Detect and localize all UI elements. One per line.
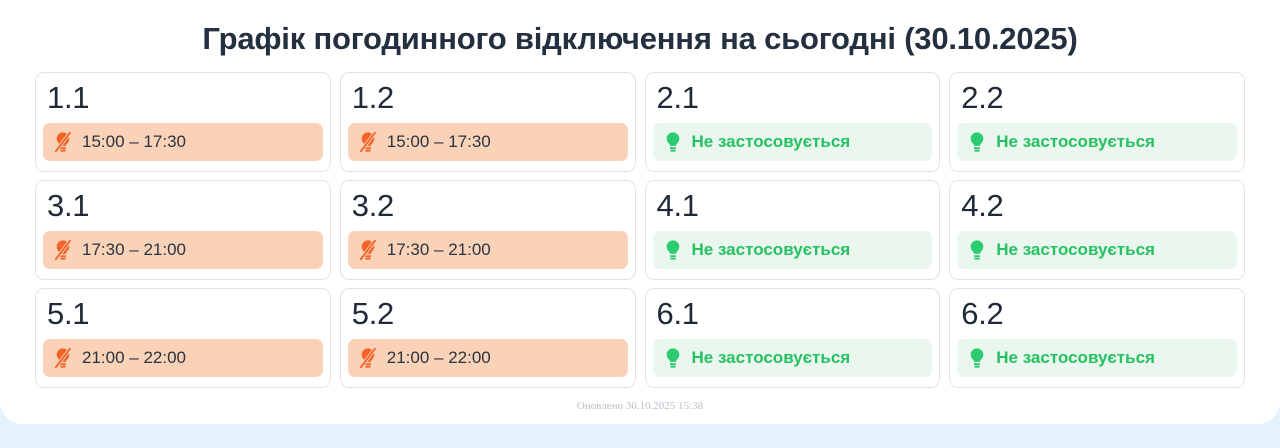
active-status-pill: Не застосовується — [653, 123, 933, 161]
active-status-pill: Не застосовується — [653, 339, 933, 377]
status-label: 15:00 – 17:30 — [82, 132, 186, 152]
group-number: 5.1 — [43, 295, 323, 333]
status-label: Не застосовується — [692, 132, 851, 152]
group-number: 3.1 — [43, 187, 323, 225]
content-sheet: Графік погодинного відключення на сьогод… — [0, 0, 1280, 424]
bulb-on-icon — [663, 239, 683, 261]
group-card[interactable]: 5.121:00 – 22:00 — [35, 288, 331, 388]
group-card[interactable]: 6.2Не застосовується — [949, 288, 1245, 388]
group-card[interactable]: 2.1Не застосовується — [645, 72, 941, 172]
group-card[interactable]: 2.2Не застосовується — [949, 72, 1245, 172]
group-card[interactable]: 1.215:00 – 17:30 — [340, 72, 636, 172]
outage-schedule-page: Графік погодинного відключення на сьогод… — [0, 0, 1280, 448]
bulb-off-icon — [358, 239, 378, 261]
bulb-on-icon — [967, 131, 987, 153]
group-number: 2.2 — [957, 79, 1237, 117]
group-number: 6.1 — [653, 295, 933, 333]
bulb-off-icon — [358, 131, 378, 153]
group-number: 1.1 — [43, 79, 323, 117]
outage-status-pill: 15:00 – 17:30 — [348, 123, 628, 161]
group-number: 4.1 — [653, 187, 933, 225]
status-label: 21:00 – 22:00 — [387, 348, 491, 368]
active-status-pill: Не застосовується — [957, 339, 1237, 377]
bulb-off-icon — [53, 239, 73, 261]
group-card[interactable]: 4.2Не застосовується — [949, 180, 1245, 280]
status-label: Не застосовується — [692, 240, 851, 260]
bulb-on-icon — [663, 131, 683, 153]
group-number: 1.2 — [348, 79, 628, 117]
outage-status-pill: 21:00 – 22:00 — [348, 339, 628, 377]
group-number: 5.2 — [348, 295, 628, 333]
group-card[interactable]: 5.221:00 – 22:00 — [340, 288, 636, 388]
status-label: 15:00 – 17:30 — [387, 132, 491, 152]
outage-status-pill: 15:00 – 17:30 — [43, 123, 323, 161]
last-updated-label: Оновлено 30.10.2025 15:38 — [0, 388, 1280, 413]
bulb-off-icon — [358, 347, 378, 369]
active-status-pill: Не застосовується — [653, 231, 933, 269]
page-title: Графік погодинного відключення на сьогод… — [0, 0, 1280, 58]
status-label: 17:30 – 21:00 — [82, 240, 186, 260]
group-card[interactable]: 3.217:30 – 21:00 — [340, 180, 636, 280]
group-card[interactable]: 3.117:30 – 21:00 — [35, 180, 331, 280]
status-label: Не застосовується — [996, 348, 1155, 368]
group-card[interactable]: 4.1Не застосовується — [645, 180, 941, 280]
bulb-on-icon — [967, 239, 987, 261]
status-label: 17:30 – 21:00 — [387, 240, 491, 260]
outage-status-pill: 21:00 – 22:00 — [43, 339, 323, 377]
bulb-off-icon — [53, 131, 73, 153]
bulb-on-icon — [967, 347, 987, 369]
group-card[interactable]: 6.1Не застосовується — [645, 288, 941, 388]
status-label: Не застосовується — [692, 348, 851, 368]
outage-status-pill: 17:30 – 21:00 — [348, 231, 628, 269]
status-label: Не застосовується — [996, 132, 1155, 152]
status-label: Не застосовується — [996, 240, 1155, 260]
group-number: 4.2 — [957, 187, 1237, 225]
outage-status-pill: 17:30 – 21:00 — [43, 231, 323, 269]
bulb-on-icon — [663, 347, 683, 369]
active-status-pill: Не застосовується — [957, 123, 1237, 161]
group-number: 6.2 — [957, 295, 1237, 333]
bulb-off-icon — [53, 347, 73, 369]
schedule-grid: 1.115:00 – 17:301.215:00 – 17:302.1Не за… — [0, 58, 1280, 388]
group-card[interactable]: 1.115:00 – 17:30 — [35, 72, 331, 172]
group-number: 3.2 — [348, 187, 628, 225]
status-label: 21:00 – 22:00 — [82, 348, 186, 368]
group-number: 2.1 — [653, 79, 933, 117]
active-status-pill: Не застосовується — [957, 231, 1237, 269]
